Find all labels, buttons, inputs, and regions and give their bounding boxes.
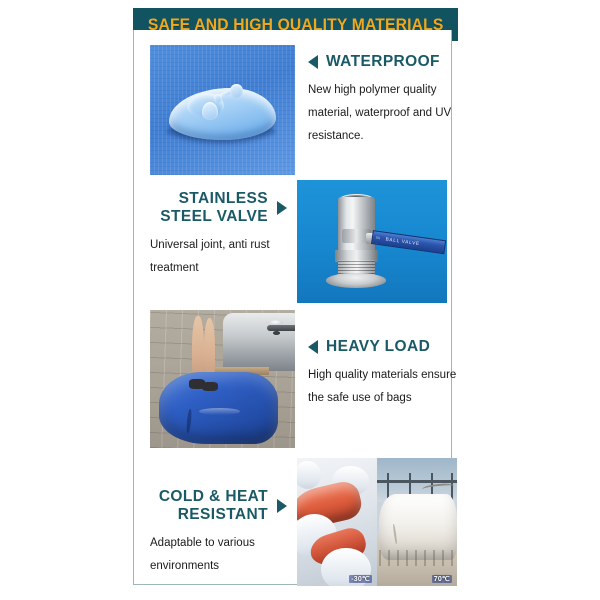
waterproof-text-block: WATERPROOF New high polymer quality mate… — [308, 45, 468, 148]
cold-heat-description: Adaptable to various environments — [150, 532, 287, 578]
cold-temperature-badge: -30℃ — [349, 575, 372, 583]
section-cold-heat-resistant: COLD & HEAT RESISTANT Adaptable to vario… — [150, 458, 457, 586]
snow-drift-top-left — [297, 461, 321, 489]
cold-resistance-image: -30℃ — [297, 458, 377, 586]
section-waterproof: WATERPROOF New high polymer quality mate… — [150, 45, 468, 175]
valve-description: Universal joint, anti rust treatment — [150, 234, 287, 280]
bladder-fold — [393, 524, 397, 544]
left-triangle-icon — [308, 55, 318, 69]
waterproof-heading-row: WATERPROOF — [308, 53, 468, 71]
infographic-root: SAFE AND HIGH QUALITY MATERIALS WATERPRO… — [0, 0, 600, 600]
valve-body — [338, 197, 376, 254]
heat-resistance-image: 70℃ — [377, 458, 457, 586]
valve-heading-row: STAINLESS STEEL VALVE — [150, 190, 287, 226]
car-grille — [267, 325, 295, 330]
droplet-bead-a — [230, 84, 243, 98]
bladder-highlight — [199, 408, 239, 415]
person-foot-right — [202, 382, 218, 392]
section-heavy-load: HEAVY LOAD High quality materials ensure… — [150, 310, 468, 448]
section-stainless-steel-valve: STAINLESS STEEL VALVE Universal joint, a… — [150, 180, 447, 303]
cold-heat-text-block: COLD & HEAT RESISTANT Adaptable to vario… — [150, 458, 287, 578]
bladder-skirt-shading — [379, 550, 457, 565]
car-fog-lamp — [273, 331, 280, 335]
valve-handle-label: BALL VALVE — [385, 237, 420, 247]
heavy-load-description: High quality materials ensure the safe u… — [308, 364, 468, 410]
valve-flange — [326, 273, 386, 288]
cold-heat-image-pair: -30℃ 70℃ — [297, 458, 457, 586]
right-triangle-icon — [277, 499, 287, 513]
left-triangle-icon — [308, 340, 318, 354]
cold-heat-heading: COLD & HEAT RESISTANT — [159, 488, 268, 524]
car-front — [223, 313, 296, 371]
car-headlight — [270, 320, 283, 325]
valve-heading: STAINLESS STEEL VALVE — [160, 190, 268, 226]
waterproof-description: New high polymer quality material, water… — [308, 79, 468, 148]
panel-top-left-edge — [133, 30, 134, 42]
valve-handle-sub-label: SS — [376, 236, 381, 241]
bladder-crease — [186, 409, 192, 434]
heavy-load-heading-row: HEAVY LOAD — [308, 338, 468, 356]
heat-temperature-badge: 70℃ — [432, 575, 452, 583]
railing-bar — [377, 480, 457, 483]
droplet-bead-c — [202, 102, 218, 120]
heavy-load-text-block: HEAVY LOAD High quality materials ensure… — [308, 310, 468, 410]
valve-handle: SS BALL VALVE — [371, 230, 446, 254]
valve-image: SS BALL VALVE — [297, 180, 447, 303]
waterproof-image — [150, 45, 295, 175]
valve-text-block: STAINLESS STEEL VALVE Universal joint, a… — [150, 180, 287, 280]
blue-water-bladder — [159, 372, 278, 444]
heavy-load-heading: HEAVY LOAD — [326, 338, 430, 356]
right-triangle-icon — [277, 201, 287, 215]
cold-heat-heading-row: COLD & HEAT RESISTANT — [150, 488, 287, 524]
waterproof-heading: WATERPROOF — [326, 53, 440, 71]
heavy-load-image — [150, 310, 295, 448]
